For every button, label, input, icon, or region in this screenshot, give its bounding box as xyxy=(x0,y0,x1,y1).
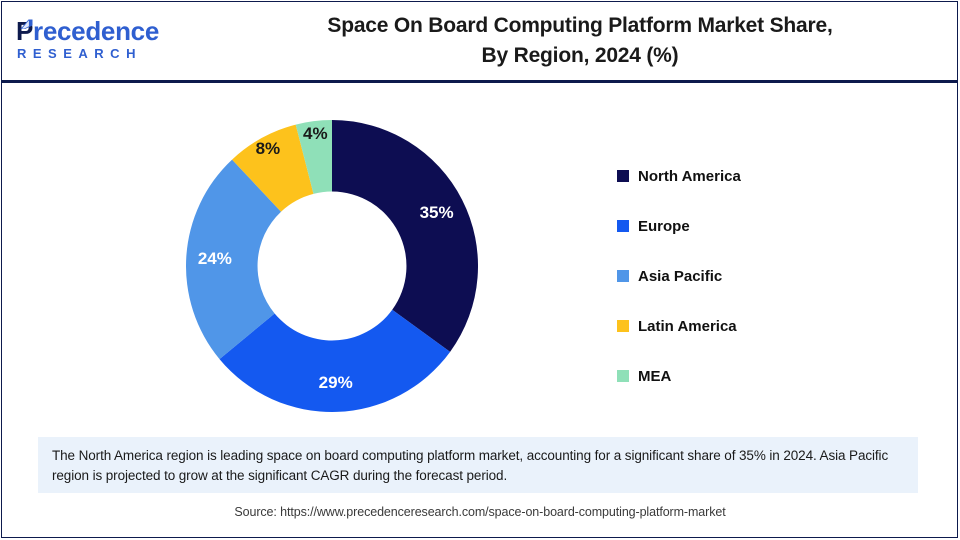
legend-item[interactable]: Europe xyxy=(617,201,917,251)
legend-item[interactable]: Latin America xyxy=(617,301,917,351)
legend-item-label: North America xyxy=(638,168,741,185)
donut-slice[interactable] xyxy=(332,120,478,352)
donut-chart: 35%29%24%8%4% xyxy=(186,120,478,412)
logo-wordmark-rest: recedence xyxy=(33,16,159,46)
chart-page: Precedence RESEARCH Space On Board Compu… xyxy=(0,0,960,540)
legend-swatch-icon xyxy=(617,270,629,282)
legend-swatch-icon xyxy=(617,320,629,332)
legend-item[interactable]: Asia Pacific xyxy=(617,251,917,301)
legend-item-label: MEA xyxy=(638,368,671,385)
footnote-text: The North America region is leading spac… xyxy=(52,446,904,486)
precedence-research-logo: Precedence RESEARCH xyxy=(10,16,170,66)
leaf-mark-icon xyxy=(19,18,34,33)
legend-swatch-icon xyxy=(617,220,629,232)
legend-item-label: Europe xyxy=(638,218,690,235)
legend-swatch-icon xyxy=(617,370,629,382)
legend-item[interactable]: MEA xyxy=(617,351,917,401)
donut-slice-value-label: 35% xyxy=(420,203,454,223)
legend-item-label: Asia Pacific xyxy=(638,268,722,285)
source-line: Source: https://www.precedenceresearch.c… xyxy=(0,505,960,519)
header: Precedence RESEARCH Space On Board Compu… xyxy=(0,0,960,80)
donut-slice-value-label: 29% xyxy=(319,373,353,393)
legend: North AmericaEuropeAsia PacificLatin Ame… xyxy=(617,151,917,401)
footnote-box: The North America region is leading spac… xyxy=(38,437,918,493)
page-title: Space On Board Computing Platform Market… xyxy=(200,11,960,71)
donut-slice-value-label: 24% xyxy=(198,249,232,269)
page-title-line-2: By Region, 2024 (%) xyxy=(200,41,960,71)
legend-item[interactable]: North America xyxy=(617,151,917,201)
logo-wordmark: Precedence xyxy=(16,16,159,46)
logo-subtitle: RESEARCH xyxy=(17,46,142,62)
donut-slice-value-label: 8% xyxy=(256,139,281,159)
legend-item-label: Latin America xyxy=(638,318,737,335)
chart-area: 35%29%24%8%4% North AmericaEuropeAsia Pa… xyxy=(0,83,960,428)
donut-slice-value-label: 4% xyxy=(303,124,328,144)
legend-swatch-icon xyxy=(617,170,629,182)
page-title-line-1: Space On Board Computing Platform Market… xyxy=(327,14,832,37)
